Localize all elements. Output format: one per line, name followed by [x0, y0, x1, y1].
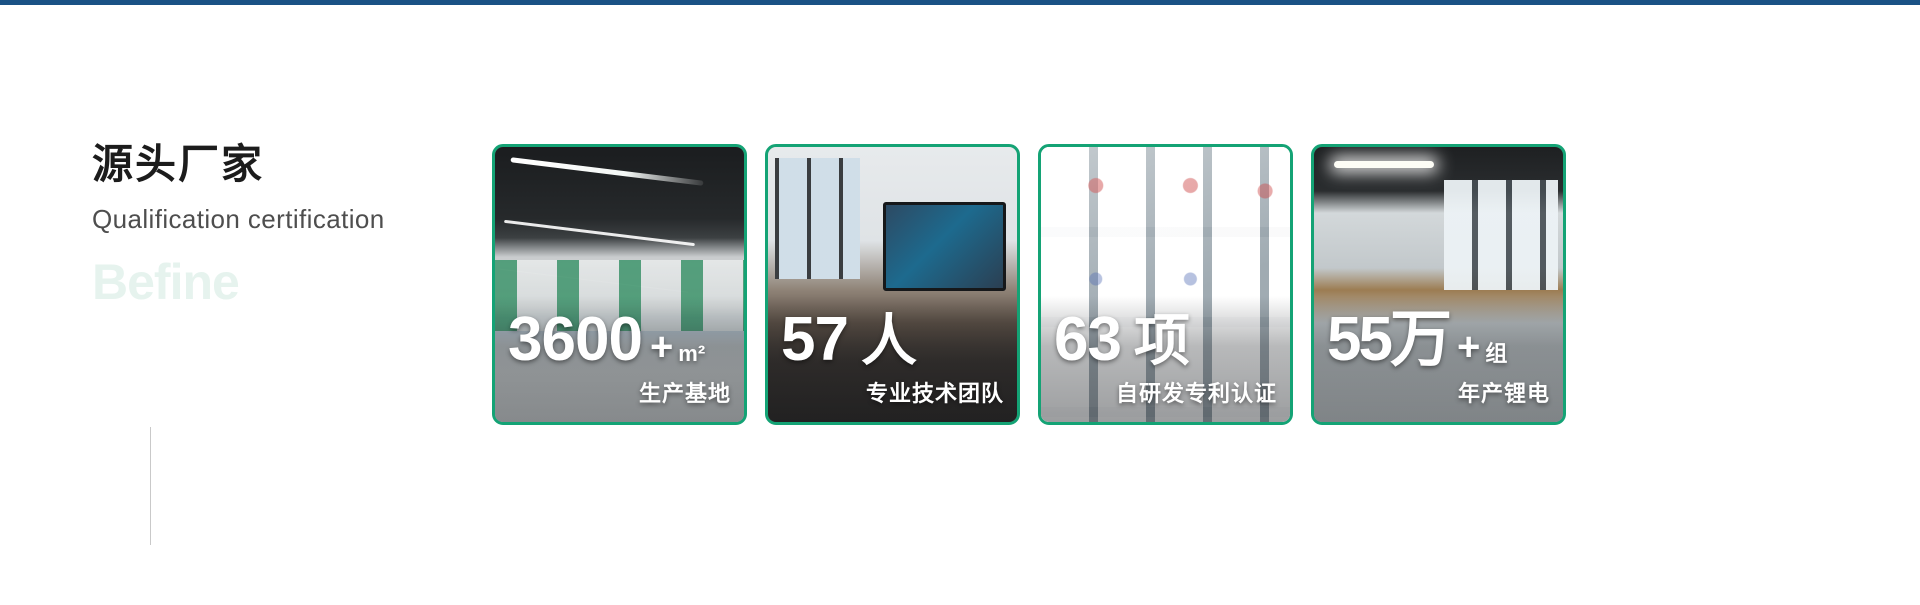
stat-overlay: 3600 + m² 生产基地 — [495, 311, 744, 408]
stat-primary-line: 55万 + 组 — [1327, 311, 1550, 370]
page-title: 源头厂家 — [92, 140, 492, 188]
stat-unit: 组 — [1485, 344, 1507, 365]
stat-value: 55万 — [1327, 311, 1449, 370]
page-subtitle: Qualification certification — [92, 204, 492, 235]
stat-card[interactable]: 63 项 自研发专利认证 — [1038, 144, 1293, 425]
intro-text-block: 源头厂家 Qualification certification Befine — [92, 140, 492, 307]
stat-overlay: 63 项 自研发专利认证 — [1041, 311, 1290, 408]
stat-primary-line: 63 项 — [1054, 311, 1277, 370]
stat-caption: 自研发专利认证 — [1054, 376, 1277, 408]
stat-unit: 人 — [861, 314, 917, 367]
stat-unit: m² — [678, 344, 705, 365]
stat-card[interactable]: 3600 + m² 生产基地 — [492, 144, 747, 425]
stat-value: 57 — [781, 311, 848, 370]
stat-unit: 项 — [1134, 314, 1190, 367]
qualification-banner: 源头厂家 Qualification certification Befine … — [0, 0, 1920, 605]
stat-card[interactable]: 55万 + 组 年产锂电 — [1311, 144, 1566, 425]
stat-primary-line: 57 人 — [781, 311, 1004, 370]
stat-overlay: 55万 + 组 年产锂电 — [1314, 311, 1563, 408]
stat-plus-sign: + — [1457, 328, 1480, 366]
stat-caption: 专业技术团队 — [781, 376, 1004, 408]
stat-card[interactable]: 57 人 专业技术团队 — [765, 144, 1020, 425]
stat-value: 3600 — [508, 311, 642, 370]
stat-value: 63 — [1054, 311, 1121, 370]
stat-caption: 年产锂电 — [1327, 376, 1550, 408]
stat-overlay: 57 人 专业技术团队 — [768, 311, 1017, 408]
stat-primary-line: 3600 + m² — [508, 311, 731, 370]
stat-plus-sign: + — [650, 328, 673, 366]
top-accent-bar — [0, 0, 1920, 5]
stat-caption: 生产基地 — [508, 376, 731, 408]
vertical-divider — [150, 427, 151, 545]
stat-card-list: 3600 + m² 生产基地 57 人 专业技术团队 — [492, 144, 1566, 425]
brand-watermark: Befine — [92, 257, 492, 307]
